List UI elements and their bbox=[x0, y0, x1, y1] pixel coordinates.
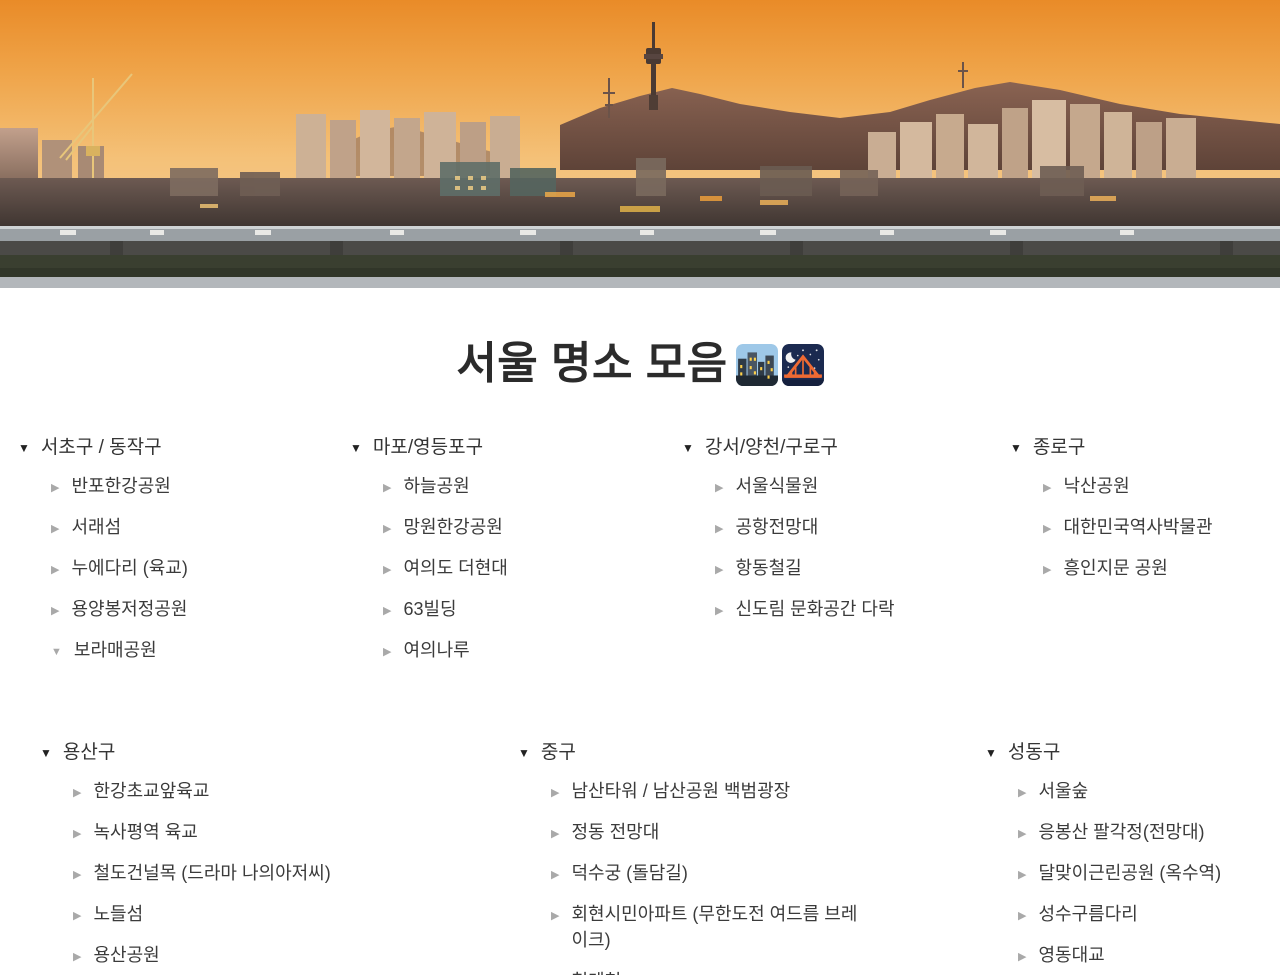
page-title-text: 서울 명소 모음 bbox=[456, 339, 727, 390]
chevron-right-icon[interactable]: ▶ bbox=[73, 788, 81, 799]
group-title: 중구 bbox=[541, 739, 576, 768]
list-item[interactable]: ▶ 정동 전망대 bbox=[551, 819, 930, 845]
district-group-gangseo-yangcheon-guro: ▼ 강서/양천/구로구 ▶ 서울식물원 ▶ 공항전망대 ▶ 항동철길 ▶ bbox=[670, 434, 1000, 679]
chevron-down-icon[interactable]: ▼ bbox=[682, 442, 694, 454]
chevron-right-icon[interactable]: ▶ bbox=[1043, 565, 1051, 576]
chevron-right-icon[interactable]: ▶ bbox=[1018, 788, 1026, 799]
list-item[interactable]: ▶ 서울숲 bbox=[1018, 778, 1280, 804]
attraction-list: ▶ 한강초교앞육교 ▶ 녹사평역 육교 ▶ 철도건널목 (드라마 나의아저씨) … bbox=[40, 778, 500, 975]
attraction-name: 용양봉저정공원 bbox=[71, 596, 187, 622]
attraction-name: 공항전망대 bbox=[735, 514, 818, 540]
list-item[interactable]: ▶ 서래섬 bbox=[51, 514, 340, 540]
chevron-right-icon[interactable]: ▶ bbox=[715, 483, 723, 494]
list-item[interactable]: ▶ 여의도 더현대 bbox=[383, 555, 670, 581]
district-group-seocho-dongjak: ▼ 서초구 / 동작구 ▶ 반포한강공원 ▶ 서래섬 ▶ 누에다리 (육교) ▶ bbox=[0, 434, 340, 679]
chevron-down-icon[interactable]: ▼ bbox=[518, 747, 530, 759]
chevron-right-icon[interactable]: ▶ bbox=[383, 483, 391, 494]
group-header-gangseo-yangcheon-guro[interactable]: ▼ 강서/양천/구로구 bbox=[682, 434, 1000, 463]
list-item[interactable]: ▶ 노들섬 bbox=[73, 901, 500, 927]
chevron-right-icon[interactable]: ▶ bbox=[551, 870, 559, 881]
chevron-right-icon[interactable]: ▶ bbox=[73, 952, 81, 963]
list-item[interactable]: ▶ 망원한강공원 bbox=[383, 514, 670, 540]
list-item[interactable]: ▶ 낙산공원 bbox=[1043, 473, 1280, 499]
district-group-jung: ▼ 중구 ▶ 남산타워 / 남산공원 백범광장 ▶ 정동 전망대 ▶ 덕수궁 (… bbox=[500, 739, 930, 975]
chevron-down-icon[interactable]: ▼ bbox=[1010, 442, 1022, 454]
attraction-name: 반포한강공원 bbox=[71, 473, 170, 499]
attraction-name: 대한민국역사박물관 bbox=[1063, 514, 1212, 540]
chevron-right-icon[interactable]: ▶ bbox=[51, 524, 59, 535]
crane-counterweight bbox=[86, 146, 100, 156]
attraction-name: 철도건널목 (드라마 나의아저씨) bbox=[93, 860, 330, 886]
chevron-right-icon[interactable]: ▶ bbox=[383, 524, 391, 535]
list-item[interactable]: ▶ 달맞이근린공원 (옥수역) bbox=[1018, 860, 1280, 886]
attractions-board: ▼ 서초구 / 동작구 ▶ 반포한강공원 ▶ 서래섬 ▶ 누에다리 (육교) ▶ bbox=[0, 434, 1280, 975]
chevron-right-icon[interactable]: ▶ bbox=[1018, 911, 1026, 922]
district-group-seongdong: ▼ 성동구 ▶ 서울숲 ▶ 응봉산 팔각정(전망대) ▶ 달맞이근린공원 (옥수… bbox=[930, 739, 1280, 975]
chevron-down-icon[interactable]: ▼ bbox=[18, 442, 30, 454]
attraction-name: 보라매공원 bbox=[74, 637, 157, 663]
district-group-yongsan: ▼ 용산구 ▶ 한강초교앞육교 ▶ 녹사평역 육교 ▶ 철도건널목 (드라마 나… bbox=[40, 739, 500, 975]
group-title: 용산구 bbox=[63, 739, 115, 768]
page-title: 서울 명소 모음 bbox=[456, 339, 823, 390]
list-item[interactable]: ▶ 영동대교 bbox=[1018, 942, 1280, 968]
chevron-right-icon[interactable]: ▶ bbox=[73, 829, 81, 840]
attraction-name: 신도림 문화공간 다락 bbox=[735, 596, 894, 622]
group-header-jongno[interactable]: ▼ 종로구 bbox=[1010, 434, 1280, 463]
list-item[interactable]: ▶ 한강초교앞육교 bbox=[73, 778, 500, 804]
attraction-name: 서래섬 bbox=[71, 514, 121, 540]
chevron-right-icon[interactable]: ▶ bbox=[51, 606, 59, 617]
attraction-name: 청계천 bbox=[571, 968, 621, 975]
district-row-top: ▼ 서초구 / 동작구 ▶ 반포한강공원 ▶ 서래섬 ▶ 누에다리 (육교) ▶ bbox=[0, 434, 1280, 679]
group-header-seocho-dongjak[interactable]: ▼ 서초구 / 동작구 bbox=[18, 434, 340, 463]
list-item[interactable]: ▶ 녹사평역 육교 bbox=[73, 819, 500, 845]
list-item[interactable]: ▶ 성수구름다리 bbox=[1018, 901, 1280, 927]
list-item[interactable]: ▶ 63빌딩 bbox=[383, 596, 670, 622]
list-item[interactable]: ▶ 누에다리 (육교) bbox=[51, 555, 340, 581]
list-item[interactable]: ▼ 보라매공원 bbox=[51, 637, 340, 663]
chevron-right-icon[interactable]: ▶ bbox=[715, 524, 723, 535]
attraction-name: 노들섬 bbox=[93, 901, 143, 927]
attraction-name: 여의도 더현대 bbox=[403, 555, 507, 581]
attraction-name: 한강초교앞육교 bbox=[93, 778, 209, 804]
list-item[interactable]: ▶ 용양봉저정공원 bbox=[51, 596, 340, 622]
attraction-list: ▶ 남산타워 / 남산공원 백범광장 ▶ 정동 전망대 ▶ 덕수궁 (돌담길) … bbox=[518, 778, 930, 975]
attraction-name: 응봉산 팔각정(전망대) bbox=[1038, 819, 1204, 845]
attraction-name: 흥인지문 공원 bbox=[1063, 555, 1167, 581]
attraction-name: 여의나루 bbox=[403, 637, 469, 663]
chevron-right-icon[interactable]: ▶ bbox=[1018, 870, 1026, 881]
han-river bbox=[0, 277, 1280, 288]
bridge-at-night-emoji bbox=[782, 344, 824, 386]
list-item[interactable]: ▶ 청계천 bbox=[551, 968, 930, 975]
attraction-name: 항동철길 bbox=[735, 555, 801, 581]
attraction-name: 녹사평역 육교 bbox=[93, 819, 197, 845]
chevron-right-icon[interactable]: ▶ bbox=[1043, 483, 1051, 494]
list-item[interactable]: ▶ 덕수궁 (돌담길) bbox=[551, 860, 930, 886]
list-item[interactable]: ▶ 항동철길 bbox=[715, 555, 1000, 581]
group-header-jung[interactable]: ▼ 중구 bbox=[518, 739, 930, 768]
chevron-right-icon[interactable]: ▶ bbox=[551, 829, 559, 840]
attraction-name: 영동대교 bbox=[1038, 942, 1104, 968]
attraction-name: 남산타워 / 남산공원 백범광장 bbox=[571, 778, 790, 804]
list-item[interactable]: ▶ 남산타워 / 남산공원 백범광장 bbox=[551, 778, 930, 804]
cityscape-emoji bbox=[736, 344, 778, 386]
chevron-right-icon[interactable]: ▶ bbox=[1018, 829, 1026, 840]
list-item[interactable]: ▶ 회현시민아파트 (무한도전 여드름 브레이크) bbox=[551, 901, 930, 953]
chevron-right-icon[interactable]: ▶ bbox=[1043, 524, 1051, 535]
list-item[interactable]: ▶ 대한민국역사박물관 bbox=[1043, 514, 1280, 540]
page-title-container: 서울 명소 모음 bbox=[0, 288, 1280, 434]
district-group-jongno: ▼ 종로구 ▶ 낙산공원 ▶ 대한민국역사박물관 ▶ 흥인지문 공원 bbox=[1000, 434, 1280, 679]
attraction-name: 성수구름다리 bbox=[1038, 901, 1137, 927]
attraction-name: 서울식물원 bbox=[735, 473, 818, 499]
chevron-right-icon[interactable]: ▶ bbox=[551, 911, 559, 922]
group-title: 종로구 bbox=[1033, 434, 1085, 463]
attraction-list: ▶ 반포한강공원 ▶ 서래섬 ▶ 누에다리 (육교) ▶ 용양봉저정공원 ▼ bbox=[18, 473, 340, 663]
district-group-mapo-yeongdeungpo: ▼ 마포/영등포구 ▶ 하늘공원 ▶ 망원한강공원 ▶ 여의도 더현대 ▶ bbox=[340, 434, 670, 679]
attraction-list: ▶ 낙산공원 ▶ 대한민국역사박물관 ▶ 흥인지문 공원 bbox=[1010, 473, 1280, 581]
chevron-right-icon[interactable]: ▶ bbox=[73, 911, 81, 922]
attraction-name: 누에다리 (육교) bbox=[71, 555, 187, 581]
attraction-name: 달맞이근린공원 (옥수역) bbox=[1038, 860, 1221, 886]
chevron-right-icon[interactable]: ▶ bbox=[73, 870, 81, 881]
attraction-name: 회현시민아파트 (무한도전 여드름 브레이크) bbox=[571, 901, 871, 953]
attraction-name: 63빌딩 bbox=[403, 596, 456, 622]
chevron-down-icon[interactable]: ▼ bbox=[350, 442, 362, 454]
attraction-name: 망원한강공원 bbox=[403, 514, 502, 540]
chevron-right-icon[interactable]: ▶ bbox=[383, 565, 391, 576]
riverbank-shadow bbox=[0, 268, 1280, 277]
group-header-mapo-yeongdeungpo[interactable]: ▼ 마포/영등포구 bbox=[350, 434, 670, 463]
group-title: 성동구 bbox=[1008, 739, 1060, 768]
chevron-down-icon[interactable]: ▼ bbox=[985, 747, 997, 759]
attraction-name: 덕수궁 (돌담길) bbox=[571, 860, 687, 886]
list-item[interactable]: ▶ 서울식물원 bbox=[715, 473, 1000, 499]
group-title: 서초구 / 동작구 bbox=[41, 434, 162, 463]
attraction-name: 낙산공원 bbox=[1063, 473, 1129, 499]
highway-underside bbox=[0, 241, 1280, 255]
chevron-down-icon[interactable]: ▼ bbox=[40, 747, 52, 759]
list-item[interactable]: ▶ 응봉산 팔각정(전망대) bbox=[1018, 819, 1280, 845]
group-header-yongsan[interactable]: ▼ 용산구 bbox=[40, 739, 500, 768]
chevron-right-icon[interactable]: ▶ bbox=[1018, 952, 1026, 963]
list-item[interactable]: ▶ 하늘공원 bbox=[383, 473, 670, 499]
chevron-right-icon[interactable]: ▶ bbox=[383, 606, 391, 617]
list-item[interactable]: ▶ 여의나루 bbox=[383, 637, 670, 663]
list-item[interactable]: ▶ 용산공원 bbox=[73, 942, 500, 968]
chevron-right-icon[interactable]: ▶ bbox=[551, 788, 559, 799]
chevron-right-icon[interactable]: ▶ bbox=[51, 483, 59, 494]
attraction-list: ▶ 서울숲 ▶ 응봉산 팔각정(전망대) ▶ 달맞이근린공원 (옥수역) ▶ 성… bbox=[985, 778, 1280, 968]
attraction-name: 용산공원 bbox=[93, 942, 159, 968]
attraction-name: 정동 전망대 bbox=[571, 819, 659, 845]
chevron-down-icon[interactable]: ▼ bbox=[51, 647, 62, 658]
attraction-list: ▶ 서울식물원 ▶ 공항전망대 ▶ 항동철길 ▶ 신도림 문화공간 다락 bbox=[682, 473, 1000, 622]
group-header-seongdong[interactable]: ▼ 성동구 bbox=[985, 739, 1280, 768]
chevron-right-icon[interactable]: ▶ bbox=[51, 565, 59, 576]
group-title: 강서/양천/구로구 bbox=[705, 434, 838, 463]
hero-banner bbox=[0, 0, 1280, 288]
list-item[interactable]: ▶ 신도림 문화공간 다락 bbox=[715, 596, 1000, 622]
chevron-right-icon[interactable]: ▶ bbox=[383, 647, 391, 658]
attraction-list: ▶ 하늘공원 ▶ 망원한강공원 ▶ 여의도 더현대 ▶ 63빌딩 ▶ 여의나 bbox=[350, 473, 670, 663]
chevron-right-icon[interactable]: ▶ bbox=[715, 606, 723, 617]
list-item[interactable]: ▶ 흥인지문 공원 bbox=[1043, 555, 1280, 581]
district-row-bottom: ▼ 용산구 ▶ 한강초교앞육교 ▶ 녹사평역 육교 ▶ 철도건널목 (드라마 나… bbox=[0, 679, 1280, 975]
attraction-name: 하늘공원 bbox=[403, 473, 469, 499]
list-item[interactable]: ▶ 공항전망대 bbox=[715, 514, 1000, 540]
attraction-name: 서울숲 bbox=[1038, 778, 1088, 804]
list-item[interactable]: ▶ 반포한강공원 bbox=[51, 473, 340, 499]
list-item[interactable]: ▶ 철도건널목 (드라마 나의아저씨) bbox=[73, 860, 500, 886]
seoul-skyline-illustration bbox=[0, 0, 1280, 288]
group-title: 마포/영등포구 bbox=[373, 434, 483, 463]
highway-rail bbox=[0, 226, 1280, 229]
title-emoji-group bbox=[736, 344, 824, 386]
chevron-right-icon[interactable]: ▶ bbox=[715, 565, 723, 576]
